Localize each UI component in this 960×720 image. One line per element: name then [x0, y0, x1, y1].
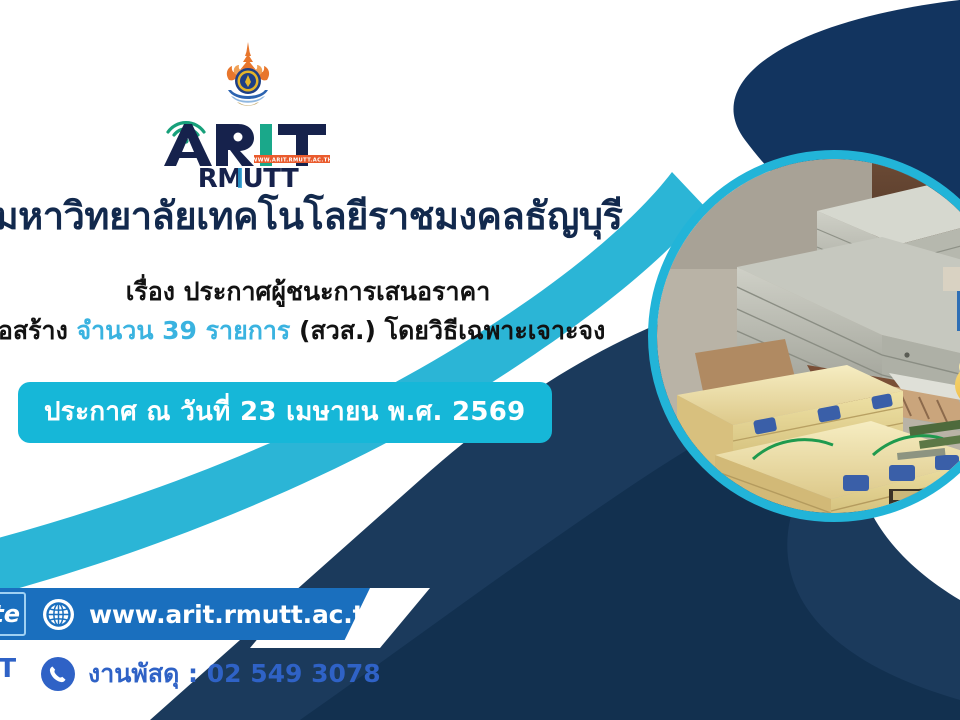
- svg-text:RMUTT: RMUTT: [197, 164, 298, 192]
- announcement-date-badge: ประกาศ ณ วันที่ 23 เมษายน พ.ศ. 2569: [18, 382, 552, 443]
- rmutt-label-cut: TT: [0, 654, 16, 684]
- detail-line: ก่อสร้าง จำนวน 39 รายการ (สวส.) โดยวิธีเ…: [0, 311, 624, 351]
- website-url[interactable]: www.arit.rmutt.ac.th: [89, 600, 382, 629]
- website-bar: www.arit.rmutt.ac.th: [0, 588, 336, 640]
- rmutt-wordmark-icon: RMUTT: [182, 164, 314, 192]
- arit-rmutt-logo: WWW.ARIT.RMUTT.AC.TH RMUTT: [150, 40, 345, 192]
- subject-line: เรื่อง ประกาศผู้ชนะการเสนอราคา: [0, 272, 638, 312]
- detail-after: (สวส.) โดยวิธีเฉพาะเจาะจง: [290, 316, 605, 345]
- arit-logo-url: WWW.ARIT.RMUTT.AC.TH: [251, 157, 332, 163]
- phone-icon: [40, 656, 76, 692]
- royal-thai-emblem-icon: [215, 40, 281, 112]
- arit-wordmark-icon: WWW.ARIT.RMUTT.AC.TH: [158, 108, 338, 170]
- phone-number[interactable]: งานพัสดุ : 02 549 3078: [88, 654, 381, 694]
- website-label-tag: te: [0, 592, 26, 636]
- globe-icon: [42, 598, 75, 631]
- announcement-poster: WWW.ARIT.RMUTT.AC.TH RMUTT มหาวิทยาลัยเท…: [0, 0, 960, 720]
- detail-before: ก่อสร้าง: [0, 316, 77, 345]
- construction-materials-photo: [657, 159, 960, 513]
- stacked-plank-ends: [889, 485, 960, 513]
- page-title: มหาวิทยาลัยเทคโนโลยีราชมงคลธัญบุรี: [0, 196, 638, 237]
- phone-row: งานพัสดุ : 02 549 3078: [0, 648, 340, 700]
- detail-highlight: จำนวน 39 รายการ: [77, 316, 291, 345]
- photo-ring: [648, 150, 960, 522]
